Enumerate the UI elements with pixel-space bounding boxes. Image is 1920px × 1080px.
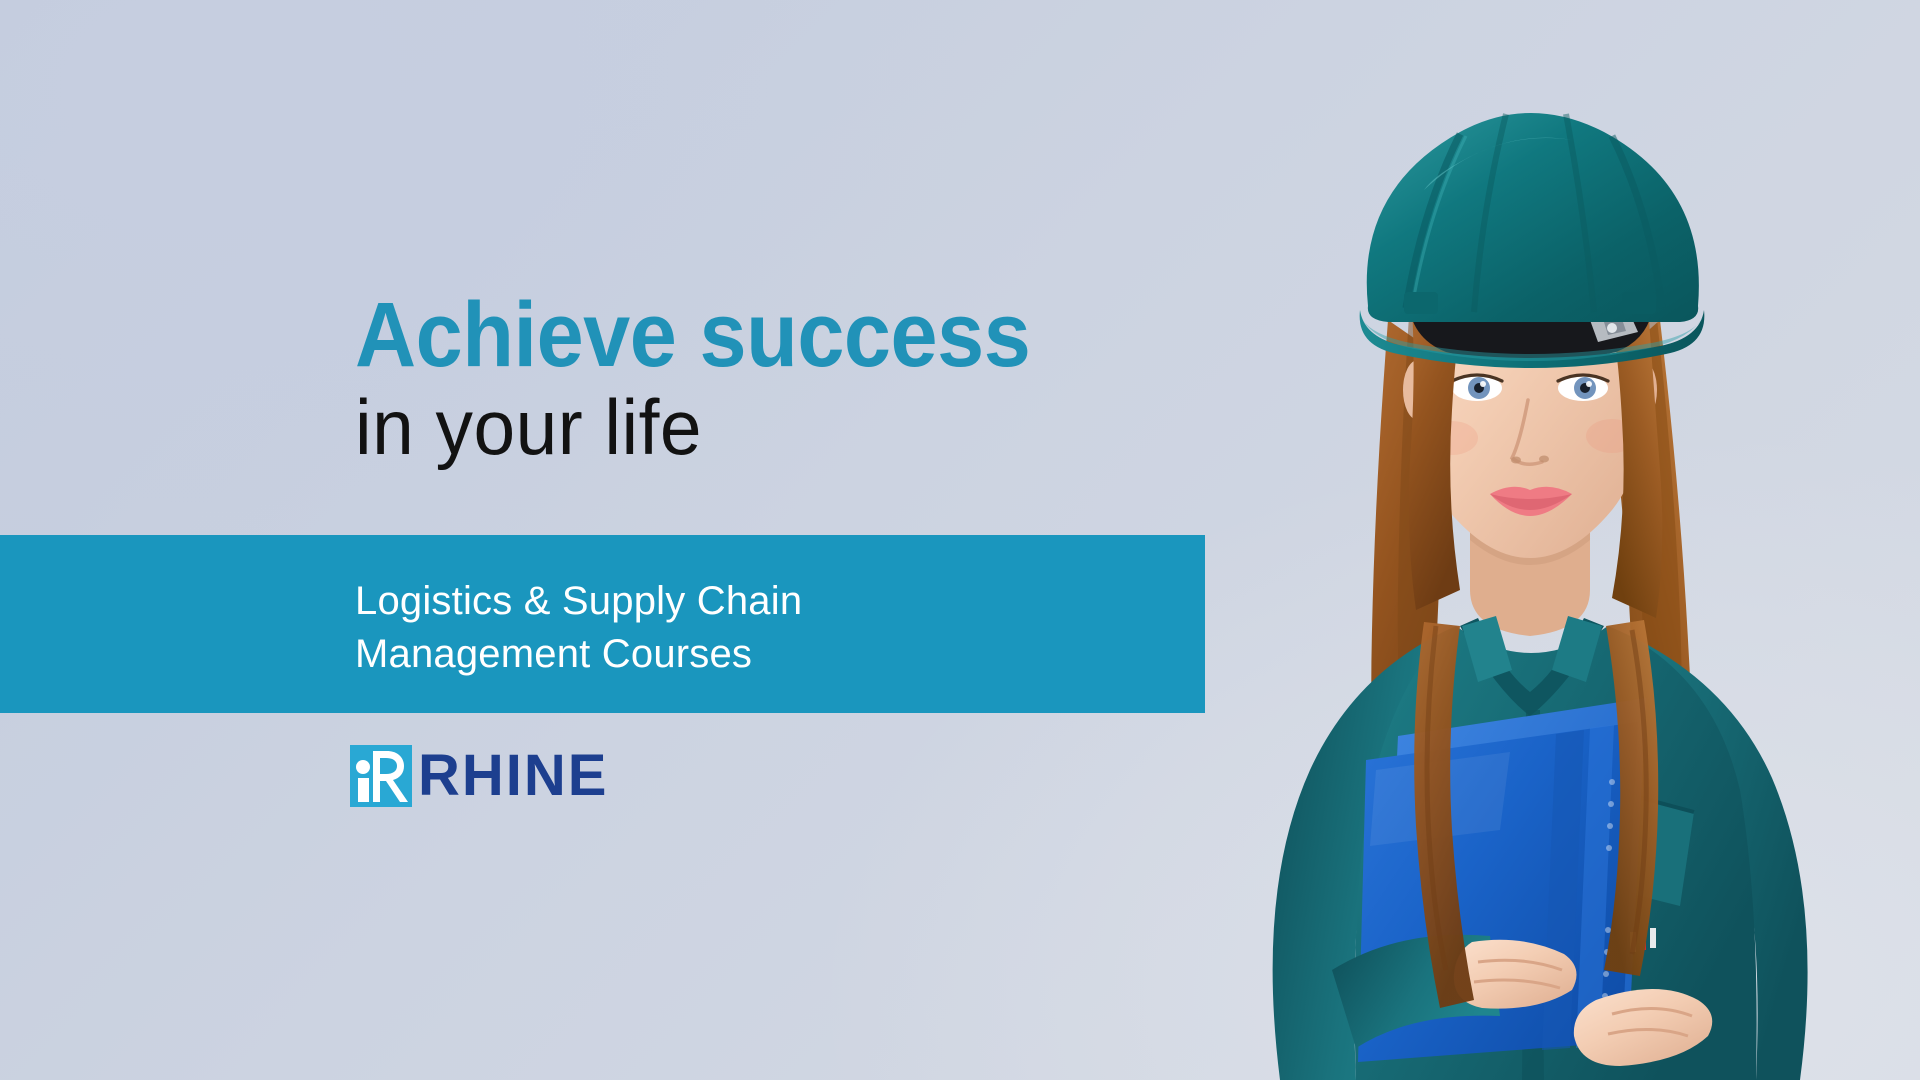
headline-block: Achieve success in your life — [355, 290, 1175, 466]
band-text-line-2: Management Courses — [355, 628, 802, 681]
rhine-logo-wordmark: RHINE — [418, 747, 608, 805]
band-text-line-1: Logistics & Supply Chain — [355, 575, 802, 628]
portrait-photo — [1160, 70, 1920, 1080]
rhine-logo[interactable]: RHINE — [350, 745, 608, 807]
headline-primary: Achieve success — [355, 290, 1109, 380]
band-text-block: Logistics & Supply Chain Management Cour… — [355, 575, 802, 681]
headline-secondary: in your life — [355, 388, 1142, 466]
rhine-logo-mark-icon — [350, 745, 412, 807]
marketing-banner: Achieve success in your life Logistics &… — [0, 0, 1920, 1080]
